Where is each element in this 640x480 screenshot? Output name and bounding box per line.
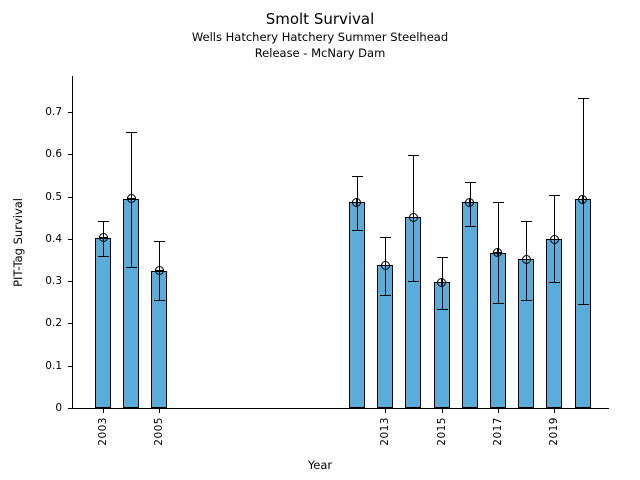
y-axis-tick-label: 0.4 bbox=[45, 231, 62, 247]
x-axis-tick-mark bbox=[385, 409, 386, 413]
chart-subtitle-line-2: Release - McNary Dam bbox=[0, 45, 640, 61]
error-bar-cap-upper bbox=[493, 202, 504, 203]
y-axis-tick-label: 0.2 bbox=[45, 315, 62, 331]
y-axis-tick-mark bbox=[68, 112, 72, 113]
error-bar-cap-upper bbox=[521, 221, 532, 222]
error-bar-cap-lower bbox=[521, 300, 532, 301]
data-point-marker-icon bbox=[550, 235, 559, 244]
data-point-marker-icon bbox=[437, 278, 446, 287]
x-axis-tick-label: 2019 bbox=[548, 417, 560, 446]
x-axis-tick-label: 2015 bbox=[436, 417, 448, 446]
bar bbox=[462, 202, 478, 408]
plot-area: 00.10.20.30.40.50.60.7 bbox=[72, 76, 608, 408]
y-axis-tick-label: 0.6 bbox=[45, 146, 62, 162]
x-axis-tick-mark bbox=[498, 409, 499, 413]
y-axis-tick-label: 0.7 bbox=[45, 104, 62, 120]
y-axis-tick-label: 0.5 bbox=[45, 189, 62, 205]
error-bar-cap-upper bbox=[380, 237, 391, 238]
error-bar-cap-upper bbox=[408, 155, 419, 156]
error-bar-cap-lower bbox=[380, 295, 391, 296]
error-bar-cap-lower bbox=[126, 267, 137, 268]
error-bar-cap-upper bbox=[549, 195, 560, 196]
chart-title-block: Smolt Survival Wells Hatchery Hatchery S… bbox=[0, 10, 640, 61]
y-axis-tick-mark bbox=[68, 366, 72, 367]
error-bar-cap-upper bbox=[154, 241, 165, 242]
error-bar-cap-lower bbox=[549, 282, 560, 283]
error-bar-cap-upper bbox=[352, 176, 363, 177]
bar bbox=[95, 238, 111, 408]
x-axis-tick-mark bbox=[159, 409, 160, 413]
data-point-marker-icon bbox=[381, 261, 390, 270]
y-axis-tick-mark bbox=[68, 281, 72, 282]
error-bar-cap-upper bbox=[126, 132, 137, 133]
x-axis-ticks: 200320052013201520172019 bbox=[72, 409, 609, 479]
error-bar-cap-lower bbox=[578, 304, 589, 305]
x-axis-tick-label: 2005 bbox=[153, 417, 165, 446]
y-axis-title-text: PIT-Tag Survival bbox=[11, 198, 25, 287]
error-bar-cap-lower bbox=[98, 256, 109, 257]
error-bar-cap-upper bbox=[437, 257, 448, 258]
x-axis-tick-label: 2013 bbox=[379, 417, 391, 446]
y-axis-tick-mark bbox=[68, 154, 72, 155]
y-axis-tick-label: 0.1 bbox=[45, 358, 62, 374]
error-bar-cap-lower bbox=[352, 230, 363, 231]
error-bar-cap-lower bbox=[154, 300, 165, 301]
y-axis-title: PIT-Tag Survival bbox=[10, 76, 26, 409]
data-point-marker-icon bbox=[99, 233, 108, 242]
error-bar-cap-lower bbox=[437, 309, 448, 310]
y-axis-tick-mark bbox=[68, 323, 72, 324]
chart-figure: Smolt Survival Wells Hatchery Hatchery S… bbox=[0, 0, 640, 480]
data-point-marker-icon bbox=[127, 194, 136, 203]
data-point-marker-icon bbox=[522, 255, 531, 264]
data-point-marker-icon bbox=[352, 198, 361, 207]
error-bar-cap-upper bbox=[578, 98, 589, 99]
x-axis-tick-mark bbox=[554, 409, 555, 413]
y-axis-tick-mark bbox=[68, 197, 72, 198]
chart-subtitle-line-1: Wells Hatchery Hatchery Summer Steelhead bbox=[0, 29, 640, 45]
error-bar-cap-lower bbox=[465, 226, 476, 227]
y-axis-tick-label: 0.3 bbox=[45, 273, 62, 289]
x-axis-tick-mark bbox=[442, 409, 443, 413]
data-point-marker-icon bbox=[155, 266, 164, 275]
error-bar-cap-upper bbox=[98, 221, 109, 222]
x-axis-tick-mark bbox=[103, 409, 104, 413]
y-axis-tick-mark bbox=[68, 239, 72, 240]
error-bar-cap-upper bbox=[465, 182, 476, 183]
page-title: Smolt Survival bbox=[0, 10, 640, 29]
data-point-marker-icon bbox=[409, 213, 418, 222]
x-axis-tick-label: 2003 bbox=[97, 417, 109, 446]
error-bar-cap-lower bbox=[408, 281, 419, 282]
error-bar-cap-lower bbox=[493, 303, 504, 304]
x-axis-tick-label: 2017 bbox=[492, 417, 504, 446]
y-axis-tick-label: 0 bbox=[55, 400, 62, 416]
bar bbox=[349, 202, 365, 408]
